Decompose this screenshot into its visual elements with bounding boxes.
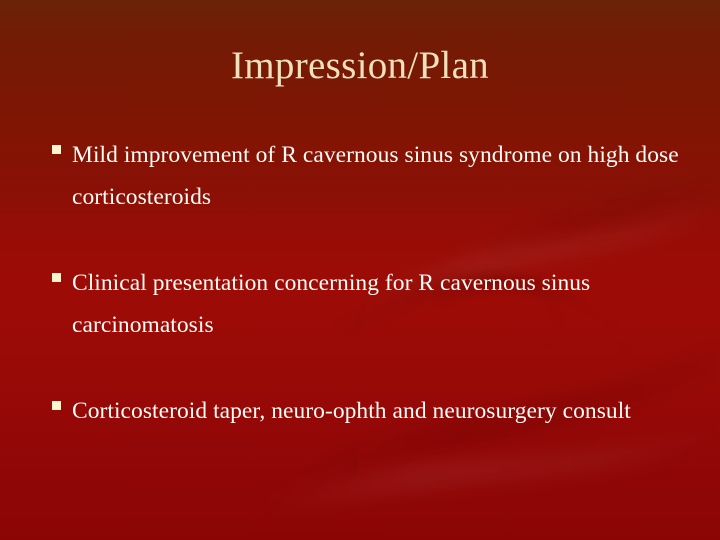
presentation-slide: Impression/Plan Mild improvement of R ca… bbox=[0, 0, 720, 540]
list-item-text: Mild improvement of R cavernous sinus sy… bbox=[72, 142, 679, 210]
list-item: Clinical presentation concerning for R c… bbox=[52, 262, 704, 346]
list-item-text: Clinical presentation concerning for R c… bbox=[72, 270, 590, 338]
list-item-text: Corticosteroid taper, neuro-ophth and ne… bbox=[72, 398, 631, 424]
square-bullet-icon bbox=[52, 145, 61, 154]
bullet-list: Mild improvement of R cavernous sinus sy… bbox=[52, 134, 704, 432]
list-item: Mild improvement of R cavernous sinus sy… bbox=[52, 134, 704, 218]
square-bullet-icon bbox=[52, 273, 61, 282]
list-item: Corticosteroid taper, neuro-ophth and ne… bbox=[52, 390, 704, 432]
square-bullet-icon bbox=[52, 401, 61, 410]
slide-title: Impression/Plan bbox=[0, 44, 720, 88]
